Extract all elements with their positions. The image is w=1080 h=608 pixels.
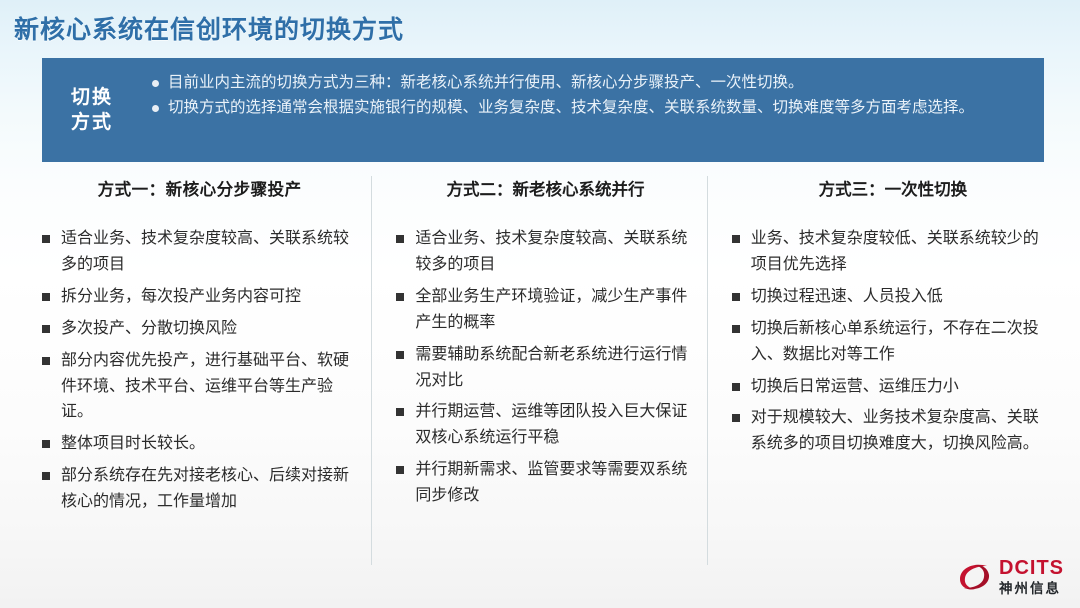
list-item: 需要辅助系统配合新老系统进行运行情况对比 [396,342,694,394]
square-bullet-icon [396,466,404,474]
list-item-text: 需要辅助系统配合新老系统进行运行情况对比 [415,342,694,394]
bullet-list: 适合业务、技术复杂度较高、关联系统较多的项目 全部业务生产环境验证，减少生产事件… [396,226,694,509]
banner-bullet: 切换方式的选择通常会根据实施银行的规模、业务复杂度、技术复杂度、关联系统数量、切… [152,96,1028,120]
column-heading: 方式二：新老核心系统并行 [396,176,694,200]
square-bullet-icon [42,325,50,333]
bullet-list: 适合业务、技术复杂度较高、关联系统较多的项目 拆分业务，每次投产业务内容可控 多… [42,226,357,515]
square-bullet-icon [42,472,50,480]
column-heading: 方式三：一次性切换 [732,176,1054,200]
square-bullet-icon [732,383,740,391]
square-bullet-icon [42,235,50,243]
column-method-two: 方式二：新老核心系统并行 适合业务、技术复杂度较高、关联系统较多的项目 全部业务… [372,176,706,568]
list-item-text: 多次投产、分散切换风险 [61,316,357,342]
banner-body: 目前业内主流的切换方式为三种：新老核心系统并行使用、新核心分步骤投产、一次性切换… [142,58,1044,162]
list-item-text: 部分内容优先投产，进行基础平台、软硬件环境、技术平台、运维平台等生产验证。 [61,348,357,426]
comparison-columns: 方式一：新核心分步骤投产 适合业务、技术复杂度较高、关联系统较多的项目 拆分业务… [20,176,1060,568]
list-item-text: 切换后新核心单系统运行，不存在二次投入、数据比对等工作 [751,316,1054,368]
list-item: 并行期新需求、监管要求等需要双系统同步修改 [396,457,694,509]
banner-label-line1: 切换 [71,85,113,110]
dot-bullet-icon [152,80,159,87]
list-item: 拆分业务，每次投产业务内容可控 [42,284,357,310]
list-item: 整体项目时长较长。 [42,431,357,457]
bullet-list: 业务、技术复杂度较低、关联系统较少的项目优先选择 切换过程迅速、人员投入低 切换… [732,226,1054,457]
square-bullet-icon [732,325,740,333]
list-item-text: 业务、技术复杂度较低、关联系统较少的项目优先选择 [751,226,1054,278]
banner-bullet-text: 目前业内主流的切换方式为三种：新老核心系统并行使用、新核心分步骤投产、一次性切换… [168,71,1028,95]
banner-label-line2: 方式 [71,110,113,135]
column-heading: 方式一：新核心分步骤投产 [42,176,357,200]
square-bullet-icon [732,235,740,243]
list-item: 切换过程迅速、人员投入低 [732,284,1054,310]
dcits-swirl-icon [956,558,994,596]
list-item: 切换后日常运营、运维压力小 [732,374,1054,400]
square-bullet-icon [396,293,404,301]
square-bullet-icon [42,293,50,301]
square-bullet-icon [396,235,404,243]
square-bullet-icon [732,414,740,422]
logo-text: DCITS 神州信息 [999,558,1064,596]
list-item: 部分系统存在先对接老核心、后续对接新核心的情况，工作量增加 [42,463,357,515]
list-item-text: 全部业务生产环境验证，减少生产事件产生的概率 [415,284,694,336]
list-item-text: 切换后日常运营、运维压力小 [751,374,1054,400]
company-logo: DCITS 神州信息 [956,556,1064,598]
list-item: 适合业务、技术复杂度较高、关联系统较多的项目 [396,226,694,278]
column-method-three: 方式三：一次性切换 业务、技术复杂度较低、关联系统较少的项目优先选择 切换过程迅… [708,176,1060,568]
list-item: 适合业务、技术复杂度较高、关联系统较多的项目 [42,226,357,278]
logo-cn-text: 神州信息 [999,582,1064,596]
square-bullet-icon [396,408,404,416]
list-item-text: 整体项目时长较长。 [61,431,357,457]
list-item: 多次投产、分散切换风险 [42,316,357,342]
logo-en-text: DCITS [999,558,1064,578]
banner-label: 切换 方式 [42,58,142,162]
list-item-text: 适合业务、技术复杂度较高、关联系统较多的项目 [61,226,357,278]
list-item: 并行期运营、运维等团队投入巨大保证双核心系统运行平稳 [396,399,694,451]
list-item-text: 并行期新需求、监管要求等需要双系统同步修改 [415,457,694,509]
list-item: 全部业务生产环境验证，减少生产事件产生的概率 [396,284,694,336]
banner-bullet: 目前业内主流的切换方式为三种：新老核心系统并行使用、新核心分步骤投产、一次性切换… [152,71,1028,95]
square-bullet-icon [42,440,50,448]
square-bullet-icon [42,357,50,365]
square-bullet-icon [396,351,404,359]
list-item-text: 适合业务、技术复杂度较高、关联系统较多的项目 [415,226,694,278]
list-item: 切换后新核心单系统运行，不存在二次投入、数据比对等工作 [732,316,1054,368]
list-item: 部分内容优先投产，进行基础平台、软硬件环境、技术平台、运维平台等生产验证。 [42,348,357,426]
square-bullet-icon [732,293,740,301]
column-method-one: 方式一：新核心分步骤投产 适合业务、技术复杂度较高、关联系统较多的项目 拆分业务… [20,176,371,568]
list-item-text: 并行期运营、运维等团队投入巨大保证双核心系统运行平稳 [415,399,694,451]
list-item: 业务、技术复杂度较低、关联系统较少的项目优先选择 [732,226,1054,278]
list-item-text: 切换过程迅速、人员投入低 [751,284,1054,310]
banner-bullet-text: 切换方式的选择通常会根据实施银行的规模、业务复杂度、技术复杂度、关联系统数量、切… [168,96,1028,120]
slide-canvas: 新核心系统在信创环境的切换方式 切换 方式 目前业内主流的切换方式为三种：新老核… [0,0,1080,608]
list-item-text: 部分系统存在先对接老核心、后续对接新核心的情况，工作量增加 [61,463,357,515]
list-item-text: 对于规模较大、业务技术复杂度高、关联系统多的项目切换难度大，切换风险高。 [751,405,1054,457]
dot-bullet-icon [152,105,159,112]
list-item: 对于规模较大、业务技术复杂度高、关联系统多的项目切换难度大，切换风险高。 [732,405,1054,457]
list-item-text: 拆分业务，每次投产业务内容可控 [61,284,357,310]
summary-banner: 切换 方式 目前业内主流的切换方式为三种：新老核心系统并行使用、新核心分步骤投产… [42,58,1044,162]
page-title: 新核心系统在信创环境的切换方式 [14,10,404,46]
